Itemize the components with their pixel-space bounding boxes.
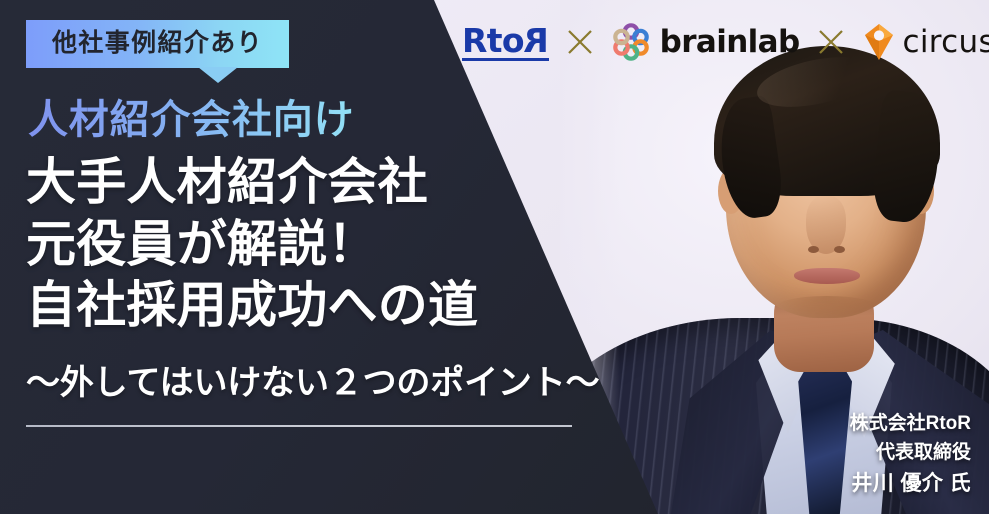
brainlab-wordmark: brainlab bbox=[660, 24, 800, 60]
rtor-logo: RtoR bbox=[462, 24, 549, 61]
partner-logo-row: RtoR brainlab bbox=[462, 18, 989, 66]
title-line-3: 自社採用成功への道 bbox=[26, 275, 478, 337]
promo-badge-label: 他社事例紹介あり bbox=[52, 29, 263, 57]
circus-wordmark: circus bbox=[903, 24, 989, 60]
speaker-role: 代表取締役 bbox=[850, 439, 971, 468]
cross-separator-icon bbox=[565, 27, 595, 57]
title-line-2: 元役員が解説！ bbox=[26, 214, 478, 276]
horizontal-divider bbox=[26, 425, 572, 427]
circus-gem-pin-icon bbox=[862, 22, 896, 62]
badge-container: 他社事例紹介あり bbox=[26, 20, 289, 68]
promo-badge: 他社事例紹介あり bbox=[26, 20, 289, 68]
page-title: 大手人材紹介会社 元役員が解説！ 自社採用成功への道 bbox=[26, 152, 478, 337]
speaker-info: 株式会社RtoR 代表取締役 井川 優介 氏 bbox=[850, 410, 971, 500]
rtor-logo-mirrored-r: R bbox=[524, 24, 549, 57]
cross-separator-icon-2 bbox=[816, 27, 846, 57]
title-line-1: 大手人材紹介会社 bbox=[26, 152, 478, 214]
speaker-company: 株式会社RtoR bbox=[850, 410, 971, 439]
nostril-right bbox=[834, 246, 845, 253]
page-subtitle: 〜外してはいけない２つのポイント〜 bbox=[26, 355, 599, 404]
nostril-left bbox=[808, 246, 819, 253]
speaker-name: 井川 優介 氏 bbox=[850, 468, 971, 500]
rtor-logo-text: Rto bbox=[462, 24, 524, 57]
badge-tail-triangle bbox=[198, 67, 238, 83]
circus-logo: circus bbox=[862, 22, 989, 62]
brainlab-flower-icon bbox=[611, 22, 651, 62]
chin-shadow bbox=[774, 296, 880, 320]
brainlab-logo: brainlab bbox=[611, 22, 800, 62]
webinar-banner: 他社事例紹介あり 人材紹介会社向け 大手人材紹介会社 元役員が解説！ 自社採用成… bbox=[0, 0, 989, 514]
eyebrow-text: 人材紹介会社向け bbox=[28, 98, 354, 142]
mouth bbox=[794, 268, 860, 284]
